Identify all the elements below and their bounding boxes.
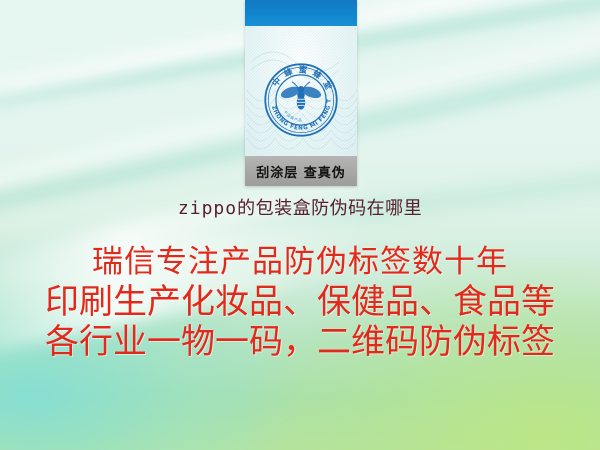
bee-icon [279,82,322,110]
anti-counterfeit-label: 中蜂蜜蜂堂 ZHONG FENG MI FENG TANG 中国蜂产品 [245,0,357,186]
zhongfeng-bee-seal: 中蜂蜜蜂堂 ZHONG FENG MI FENG TANG 中国蜂产品 [263,62,339,138]
label-body: 中蜂蜜蜂堂 ZHONG FENG MI FENG TANG 中国蜂产品 [245,26,357,156]
promo-line-3: 各行业一物一码，二维码防伪标签 [0,322,600,362]
scratch-off-label: 刮涂层 查真伪 [256,162,346,181]
promo-text-block: 瑞信专注产品防伪标签数十年 印刷生产化妆品、保健品、食品等 各行业一物一码，二维… [0,242,600,362]
caption-latin-text: zippo [178,198,237,219]
promo-line-1: 瑞信专注产品防伪标签数十年 [0,242,600,282]
screenshot-canvas: 中蜂蜜蜂堂 ZHONG FENG MI FENG TANG 中国蜂产品 [0,0,600,450]
promo-line-2: 印刷生产化妆品、保健品、食品等 [0,282,600,322]
page-caption: zippo的包装盒防伪码在哪里 [0,194,600,220]
label-header-bar [245,0,357,26]
scratch-off-strip[interactable]: 刮涂层 查真伪 [245,156,357,186]
caption-chinese-text: 的包装盒防伪码在哪里 [237,198,422,219]
